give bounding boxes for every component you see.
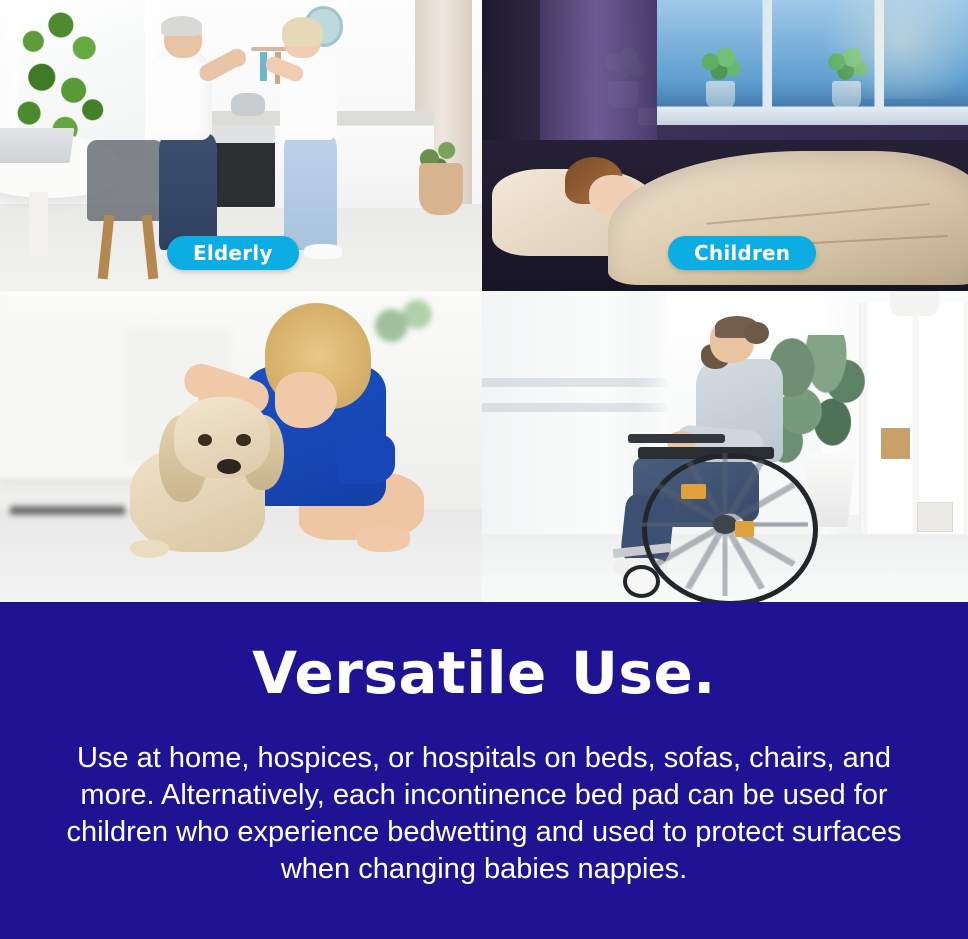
laptop xyxy=(0,128,75,163)
panel-body-text: Use at home, hospices, or hospitals on b… xyxy=(54,740,914,888)
elderly-man-hand xyxy=(227,49,246,66)
wheelchair-caster xyxy=(623,565,660,598)
wheel-push-handle xyxy=(735,521,754,537)
photo-cell-children: Children xyxy=(482,0,968,291)
curtain-fold xyxy=(482,378,686,387)
oven xyxy=(212,125,275,206)
headline-word-2: Use. xyxy=(571,639,716,707)
badge-children: Children xyxy=(668,236,816,270)
wheel-push-handle xyxy=(681,484,705,500)
photo-cell-disabled: Disabled xyxy=(482,291,968,602)
book xyxy=(881,428,910,459)
elderly-woman-shoe xyxy=(304,244,343,259)
elderly-woman-hair xyxy=(282,17,323,46)
headline-word-1: Versatile xyxy=(252,639,547,707)
wheel-hub xyxy=(713,515,737,534)
wheelchair-armrest xyxy=(628,434,725,443)
panel-headline: VersatileUse. xyxy=(252,644,716,702)
versatile-use-panel: VersatileUse. Use at home, hospices, or … xyxy=(0,602,968,939)
floor-shadow xyxy=(10,506,126,515)
elderly-man-legs xyxy=(159,134,217,250)
badge-elderly: Elderly xyxy=(167,236,299,270)
warm-light-glow xyxy=(803,0,968,99)
table-leg xyxy=(29,192,48,256)
elderly-man-hair xyxy=(161,16,202,36)
use-case-photo-grid: Elderly Children xyxy=(0,0,968,602)
photo-cell-pets: Pets xyxy=(0,291,482,602)
man-hair-bun xyxy=(744,322,768,344)
storage-box xyxy=(917,502,953,532)
window-sill xyxy=(638,108,968,125)
boy-sleeve xyxy=(337,434,395,484)
plant-pot xyxy=(419,163,462,215)
shelf-plant-pot xyxy=(890,291,939,316)
curtain-fold xyxy=(482,403,686,412)
photo-cell-elderly: Elderly xyxy=(0,0,482,291)
kettle xyxy=(231,93,265,116)
versatile-use-infographic: Elderly Children xyxy=(0,0,968,939)
chair xyxy=(87,140,164,221)
elderly-woman-legs xyxy=(284,134,337,250)
dog-eye xyxy=(236,434,250,446)
boy-foot xyxy=(357,527,410,552)
